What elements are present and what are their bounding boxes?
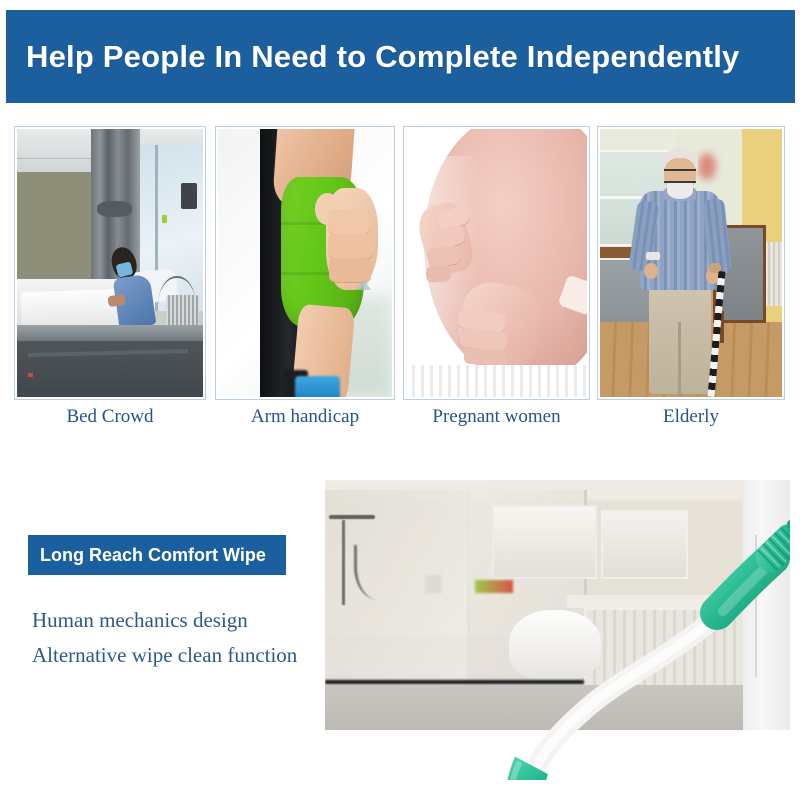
persona-image-pregnant-women <box>406 129 587 397</box>
persona-card-row: Bed Crowd Arm handicap <box>0 126 800 436</box>
photo-bottom-mask <box>325 730 790 800</box>
card-frame <box>597 126 785 400</box>
persona-card-bed-crowd: Bed Crowd <box>14 126 206 400</box>
product-infographic: Help People In Need to Complete Independ… <box>0 0 800 800</box>
product-feature-2: Alternative wipe clean function <box>32 643 297 668</box>
card-frame <box>403 126 590 400</box>
card-frame <box>14 126 206 400</box>
product-label: Long Reach Comfort Wipe <box>28 545 266 566</box>
page-title: Help People In Need to Complete Independ… <box>6 39 739 75</box>
persona-image-arm-handicap <box>218 129 392 397</box>
product-photo-right-panel <box>743 480 790 732</box>
persona-card-elderly: Elderly <box>597 126 785 400</box>
persona-caption: Bed Crowd <box>14 406 206 428</box>
persona-caption: Arm handicap <box>215 406 395 428</box>
product-feature-1: Human mechanics design <box>32 608 248 633</box>
persona-card-pregnant-women: Pregnant women <box>403 126 590 400</box>
persona-caption: Pregnant women <box>403 406 590 428</box>
persona-caption: Elderly <box>597 406 785 428</box>
card-frame <box>215 126 395 400</box>
persona-image-bed-crowd <box>17 129 203 397</box>
persona-card-arm-handicap: Arm handicap <box>215 126 395 400</box>
header-banner: Help People In Need to Complete Independ… <box>6 10 795 103</box>
product-bathroom-photo <box>325 480 743 730</box>
persona-image-elderly <box>600 129 782 397</box>
product-label-box: Long Reach Comfort Wipe <box>28 535 286 575</box>
